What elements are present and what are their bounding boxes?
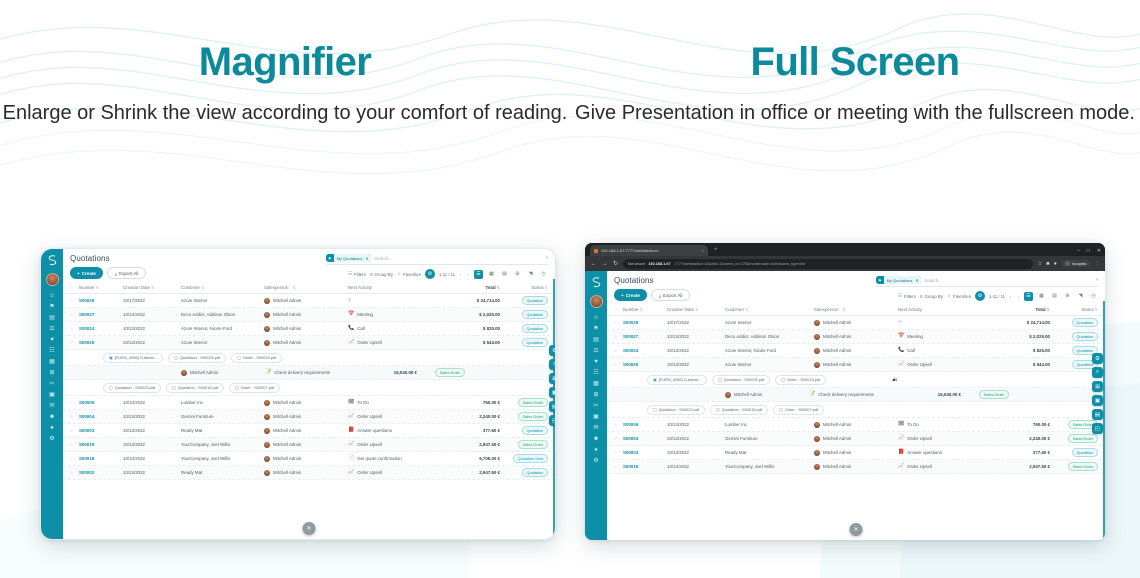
kanban-view-button[interactable]: ▦ <box>1037 292 1046 301</box>
layout-tool-button[interactable]: ▤ <box>549 401 556 412</box>
magnifier-tool-button[interactable]: ⌕ <box>1092 367 1103 378</box>
forward-icon[interactable]: → <box>601 261 608 267</box>
status-badge: Quotation <box>1050 332 1098 340</box>
row-total: 2,240.00 € <box>446 414 500 419</box>
not-secure-label: Not secure <box>628 262 645 266</box>
manufacturing-icon[interactable]: ✂ <box>49 381 54 387</box>
row-activity: 📄Get quote confirmation <box>348 456 446 461</box>
table-row[interactable]: ○ S00027 10/13/2022 Deco Addict, Addison… <box>63 308 555 322</box>
avatar[interactable] <box>46 273 59 286</box>
table-row[interactable]: ○ S00025 10/13/2022 Azure Interior Mitch… <box>63 336 555 350</box>
reload-icon[interactable]: ↻ <box>612 260 619 267</box>
window-controls: – □ ✕ <box>1077 248 1101 254</box>
row-number[interactable]: S00018 <box>79 456 123 461</box>
odoo-s-logo-icon[interactable] <box>588 274 604 290</box>
attachment-chip[interactable]: ▢Order - S00007.pdf <box>773 405 824 415</box>
table-row[interactable]: ○ S00006 10/13/2022 Lumber Inc Mitchell … <box>63 396 555 410</box>
status-badge: Sales Order <box>961 390 1009 398</box>
row-checkbox[interactable]: ○ <box>70 428 79 433</box>
extension-icon[interactable]: ■ <box>1046 261 1049 267</box>
table-row[interactable]: ○ S00027 10/13/2022 Deco Addict, Addison… <box>607 330 1105 344</box>
close-overlay-button[interactable]: ✕ <box>850 523 863 536</box>
row-total: $ 825.00 <box>446 326 500 331</box>
export-all-button[interactable]: ⤓ Export All <box>651 289 690 301</box>
row-salesperson: Mitchell Admin <box>264 470 348 476</box>
inventory-icon[interactable]: ☷ <box>593 370 598 376</box>
row-total: 2,947.50 € <box>446 470 500 475</box>
filters-label: Filters <box>904 294 916 299</box>
avatar <box>814 450 820 456</box>
sidebar-tool-button[interactable]: ◰ <box>549 415 556 426</box>
pager-previous-button[interactable]: ‹ <box>459 272 463 277</box>
table-row[interactable]: ○ S00026 10/17/2022 Azure Interior Mitch… <box>607 316 1105 330</box>
email-icon[interactable]: ✉ <box>49 403 54 409</box>
pdf-file-icon: ▢ <box>716 407 720 412</box>
settings-tool-button[interactable]: ⚙ <box>549 345 556 356</box>
row-salesperson: Mitchell Admin <box>814 334 898 340</box>
row-customer: Ready Mat <box>725 450 814 455</box>
fullscreen-tool-button[interactable]: ⊞ <box>549 373 556 384</box>
export-all-label: Export All <box>663 293 682 298</box>
employees-icon[interactable]: ☻ <box>593 436 599 442</box>
row-number[interactable]: S00026 <box>79 298 123 303</box>
attachment-row: ▢Quotation - S00023.pdf ▢Quotation - S00… <box>63 380 555 396</box>
incognito-label: Incognito <box>1072 262 1087 266</box>
fullscreen-tool-button[interactable]: ⊞ <box>1092 381 1103 392</box>
row-checkbox[interactable]: ○ <box>614 320 623 325</box>
activity-icon: 📈 <box>898 436 904 441</box>
settings-icon[interactable]: ⚙ <box>593 458 598 464</box>
row-checkbox[interactable]: ○ <box>614 422 623 427</box>
incognito-badge[interactable]: Incognito <box>1061 260 1091 267</box>
favorites-icon[interactable]: ♥ <box>594 359 598 365</box>
row-checkbox[interactable]: ○ <box>70 340 79 345</box>
row-activity: 📞Call <box>898 348 996 353</box>
chevron-down-icon[interactable]: ▾ <box>546 255 548 261</box>
url-bar[interactable]: Not secure 192.168.1.67 :7777/web#action… <box>623 259 1033 269</box>
attachment-chip[interactable]: ▢Quotation - S00015.pdf <box>710 405 768 415</box>
row-salesperson: Mitchell Admin <box>725 392 809 398</box>
browser-menu-icon[interactable]: ⋮ <box>1095 261 1101 267</box>
row-activity: 📈Order Upsell <box>898 464 996 469</box>
scrollbar[interactable] <box>1103 301 1105 540</box>
activity-icon: 📈 <box>348 470 354 475</box>
column-header-next-activity[interactable]: Next Activity <box>348 285 446 290</box>
odoo-app-window: ☺ ⚑ ▤ ⚖ ♥ ☷ ▦ ⊞ ✂ ▣ ✉ ☻ ♠ ⚙ Quotations <box>585 271 1105 540</box>
project-icon[interactable]: ▣ <box>593 414 599 420</box>
activity-icon: 📝 <box>809 392 815 397</box>
layout-tool-button[interactable]: ▤ <box>1092 409 1103 420</box>
avatar[interactable] <box>590 295 603 308</box>
pager-next-button[interactable]: › <box>466 272 470 277</box>
row-date: 10/13/2022 <box>667 362 725 367</box>
row-total: 377.60 € <box>446 428 500 433</box>
row-number[interactable]: S00026 <box>623 320 667 325</box>
favorites-dropdown[interactable]: ☆ Favorites <box>947 293 971 299</box>
row-checkbox[interactable]: ○ <box>70 442 79 447</box>
control-panel-buttons: + Create ⤓ Export All <box>614 289 690 301</box>
filters-dropdown[interactable]: ☷ Filters <box>898 293 916 299</box>
employees-icon[interactable]: ☻ <box>49 414 55 420</box>
filter-icon: ☷ <box>898 293 902 299</box>
row-activity: 📞Call <box>348 326 446 331</box>
magnifier-settings-button[interactable]: ⚙ <box>975 291 985 301</box>
column-header-customer[interactable]: Customer⇅ <box>181 285 264 290</box>
incognito-icon <box>1065 261 1070 266</box>
pivot-view-button[interactable]: ⊞ <box>1063 292 1072 301</box>
status-badge: Quotation <box>500 338 548 346</box>
pager-next-button[interactable]: › <box>1016 294 1020 299</box>
row-number[interactable]: S00004 <box>623 436 667 441</box>
list-view-button[interactable]: ☰ <box>1024 292 1033 301</box>
row-number[interactable]: S00019 <box>79 442 123 447</box>
favorites-label: Favorites <box>953 294 971 299</box>
activity-icon: 📈 <box>348 340 354 345</box>
column-header-next-activity[interactable]: Next Activity <box>898 307 996 312</box>
row-number[interactable]: S00002 <box>79 470 123 475</box>
table-row[interactable]: ○ S00024 10/13/2022 Azure Interior, Nico… <box>607 344 1105 358</box>
attachment-chip[interactable]: ▢Quotation - S00025.pdf <box>712 375 770 385</box>
row-salesperson: Mitchell Admin <box>814 422 898 428</box>
activity-icon: ○ <box>898 320 901 325</box>
row-checkbox[interactable]: ○ <box>614 334 623 339</box>
column-header-salesperson[interactable]: Salesperson⇅ <box>814 307 898 312</box>
row-activity: 📕Answer questions <box>348 428 446 433</box>
calendar-view-button[interactable]: ▤ <box>500 270 509 279</box>
attachment-chip[interactable]: ▢Order - S00007.pdf <box>229 383 280 393</box>
table-row[interactable]: ○ S00002 10/13/2022 Ready Mat Mitchell A… <box>63 466 555 480</box>
settings-icon[interactable]: ⚙ <box>49 436 54 442</box>
column-header-status[interactable]: Status⇅ <box>1050 307 1098 312</box>
favorites-dropdown[interactable]: ☆ Favorites <box>397 271 421 277</box>
star-icon: ☆ <box>397 271 401 277</box>
row-salesperson: Mitchell Admin <box>814 348 898 354</box>
accounting-icon[interactable]: ⚖ <box>593 348 598 354</box>
row-customer: Azure Interior <box>181 340 264 345</box>
row-checkbox[interactable]: ○ <box>70 400 79 405</box>
close-overlay-button[interactable]: ✕ <box>303 522 316 535</box>
column-header-salesperson[interactable]: Salesperson⇅ <box>264 285 348 290</box>
attachment-row: ▣[FURN_0096] Customi... ▢Quotation - S00… <box>607 372 1105 388</box>
row-date: 10/17/2022 <box>667 320 725 325</box>
row-salesperson: Mitchell Admin <box>264 456 348 462</box>
row-customer: YourCompany, Joel Willis <box>181 456 264 461</box>
column-header-creation-date[interactable]: Creation Date⇅ <box>123 285 181 290</box>
expanded-detail-row: Mitchell Admin 📝Check delivery requireme… <box>607 388 1105 402</box>
tablet-mockup-magnifier: ☺ ⚑ ▤ ⚖ ♥ ☷ ▦ ⊞ ✂ ▣ ✉ ☻ ♠ ⚙ Quotations <box>40 248 556 540</box>
attachment-chip[interactable]: ▢Quotation - S00025.pdf <box>168 353 226 363</box>
project-icon[interactable]: ▣ <box>49 392 55 398</box>
search-placeholder: Search... <box>924 278 942 283</box>
column-header-creation-date[interactable]: Creation Date⇅ <box>667 307 725 312</box>
select-all-checkbox[interactable]: ○ <box>70 285 79 290</box>
row-checkbox[interactable]: ○ <box>614 348 623 353</box>
table-row[interactable]: ○ S00018 10/13/2022 YourCompany, Joel Wi… <box>63 452 555 466</box>
browser-tab[interactable]: 192.168.1.67:7777/web/#action= × <box>590 245 708 256</box>
table-row[interactable]: ○ S00004 10/13/2022 Gemini Furniture Mit… <box>607 432 1105 446</box>
status-badge: Quotation <box>500 426 548 434</box>
table-header-row: ○ Number⇅ Creation Date⇅ Customer⇅ Sales… <box>63 282 555 294</box>
row-checkbox[interactable]: ○ <box>614 362 623 367</box>
sales-icon[interactable]: ▤ <box>49 315 55 321</box>
group-by-dropdown[interactable]: ≡ Group By <box>920 294 943 299</box>
filters-dropdown[interactable]: ☷ Filters <box>348 271 366 277</box>
browser-tab-bar: 192.168.1.67:7777/web/#action= × + – □ ✕ <box>585 243 1105 256</box>
row-checkbox[interactable]: ○ <box>614 464 623 469</box>
activity-view-button[interactable]: ◷ <box>1089 292 1098 301</box>
search-input[interactable]: ⚑ My Quotations ✕ Search... ▾ <box>876 276 1098 287</box>
group-by-label: Group By <box>374 272 393 277</box>
table-row[interactable]: ○ S00019 10/13/2022 YourCompany, Joel Wi… <box>607 460 1105 474</box>
discuss-icon[interactable]: ☺ <box>49 293 55 299</box>
table-header-row: ○ Number⇅ Creation Date⇅ Customer⇅ Sales… <box>607 304 1105 316</box>
attachment-chip[interactable]: ▢Quotation - S00015.pdf <box>166 383 224 393</box>
create-button[interactable]: + Create <box>614 289 647 301</box>
close-icon[interactable]: ✕ <box>915 276 921 284</box>
odoo-s-logo-icon[interactable] <box>44 252 60 268</box>
row-number[interactable]: S00025 <box>79 340 123 345</box>
pdf-file-icon: ▢ <box>653 407 657 412</box>
row-checkbox[interactable]: ○ <box>70 298 79 303</box>
theme-tool-button[interactable]: ▣ <box>1092 395 1103 406</box>
row-date: 10/13/2022 <box>123 442 181 447</box>
row-date: 10/13/2022 <box>123 414 181 419</box>
purchase-icon[interactable]: ▦ <box>593 381 599 387</box>
activity-icon: 📕 <box>898 450 904 455</box>
magnifier-tool-button[interactable]: ⌕ <box>549 359 556 370</box>
row-activity: 📕Answer questions <box>898 450 996 455</box>
manufacturing-icon[interactable]: ✂ <box>593 403 598 409</box>
recruitment-icon[interactable]: ♠ <box>594 447 597 453</box>
calendar-view-button[interactable]: ▤ <box>1050 292 1059 301</box>
row-checkbox[interactable]: ○ <box>70 312 79 317</box>
column-header-total[interactable]: Total⇅ <box>996 307 1050 312</box>
row-total: 2,947.50 € <box>446 442 500 447</box>
favorites-label: Favorites <box>403 272 421 277</box>
row-salesperson: Mitchell Admin <box>814 450 898 456</box>
favicon-icon <box>594 249 598 253</box>
avatar <box>264 414 270 420</box>
expanded-detail-row: Mitchell Admin 📝Check delivery requireme… <box>63 366 555 380</box>
browser-mockup-fullscreen: 192.168.1.67:7777/web/#action= × + – □ ✕… <box>585 243 1105 540</box>
row-checkbox[interactable]: ○ <box>70 414 79 419</box>
table-row[interactable]: ○ S00006 10/13/2022 Lumber Inc Mitchell … <box>607 418 1105 432</box>
control-panel-tools: ☷ Filters ≡ Group By ☆ Favorites <box>898 291 1098 301</box>
group-by-dropdown[interactable]: ≡ Group By <box>370 272 393 277</box>
status-badge: Quotation <box>1050 448 1098 456</box>
chevron-down-icon[interactable]: ▾ <box>1096 277 1098 283</box>
download-icon: ⤓ <box>659 293 661 298</box>
activity-view-button[interactable]: ◷ <box>539 270 548 279</box>
row-number[interactable]: S00004 <box>79 414 123 419</box>
table-row[interactable]: ○ S00025 10/13/2022 Azure Interior Mitch… <box>607 358 1105 372</box>
profile-icon[interactable]: ● <box>1054 261 1057 267</box>
row-date: 10/13/2022 <box>667 436 725 441</box>
activity-icon: 📞 <box>898 348 904 353</box>
row-activity: 📈Order Upsell <box>348 340 446 345</box>
row-customer: Azure Interior, Nicole Ford <box>725 348 814 353</box>
floating-toolbar: ⚙ ⌕ ⊞ ▣ ▤ ◰ <box>549 345 556 426</box>
row-salesperson: Mitchell Admin <box>264 414 348 420</box>
row-customer: Ready Mat <box>181 470 264 475</box>
pager-text: 1-11 / 11 <box>439 272 455 277</box>
star-icon: ☆ <box>947 293 951 299</box>
close-button[interactable]: ✕ <box>1097 248 1101 254</box>
column-header-customer[interactable]: Customer⇅ <box>725 307 814 312</box>
status-badge: Sales Order <box>1050 434 1098 442</box>
favorites-icon[interactable]: ♥ <box>50 337 54 343</box>
search-input[interactable]: ⚑ My Quotations ✕ Search... ▾ <box>326 254 548 265</box>
row-checkbox[interactable]: ○ <box>614 436 623 441</box>
settings-tool-button[interactable]: ⚙ <box>1092 353 1103 364</box>
row-total: 760.00 € <box>996 422 1050 427</box>
row-activity: 🗓To Do <box>898 422 996 427</box>
row-activity: ○ <box>898 320 996 325</box>
row-checkbox[interactable]: ○ <box>70 470 79 475</box>
attachment-chip[interactable]: ▢Order - S00015.pdf <box>775 375 826 385</box>
avatar <box>814 320 820 326</box>
activity-icon: 📈 <box>898 464 904 469</box>
row-number[interactable]: S00003 <box>79 428 123 433</box>
activity-icon: 📈 <box>348 414 354 419</box>
row-total: $ 544.00 <box>446 340 500 345</box>
row-checkbox[interactable]: ○ <box>70 456 79 461</box>
attachment-chip[interactable]: ▢Quotation - S00023.pdf <box>103 383 161 393</box>
row-date: 10/13/2022 <box>667 334 725 339</box>
close-icon[interactable]: × <box>702 248 704 253</box>
accounting-icon[interactable]: ⚖ <box>49 326 54 332</box>
row-number[interactable]: S00003 <box>623 450 667 455</box>
row-total: 15,040.00 € <box>907 392 961 397</box>
search-facet-my-quotations[interactable]: ⚑ My Quotations ✕ <box>876 276 921 284</box>
row-salesperson: Mitchell Admin <box>814 464 898 470</box>
group-icon: ≡ <box>370 272 373 277</box>
row-number[interactable]: S00024 <box>623 348 667 353</box>
crm-icon[interactable]: ⚑ <box>49 304 54 310</box>
row-activity: 📈Order Upsell <box>898 436 996 441</box>
row-date: 10/13/2022 <box>123 456 181 461</box>
table-row[interactable]: ○ S00004 10/13/2022 Gemini Furniture Mit… <box>63 410 555 424</box>
list-view-button[interactable]: ☰ <box>474 270 483 279</box>
row-number[interactable]: S00025 <box>623 362 667 367</box>
quotations-table: ○ Number⇅ Creation Date⇅ Customer⇅ Sales… <box>63 282 555 539</box>
crm-icon[interactable]: ⚑ <box>593 326 598 332</box>
theme-tool-button[interactable]: ▣ <box>549 387 556 398</box>
column-header-total[interactable]: Total⇅ <box>446 285 500 290</box>
row-checkbox[interactable]: ○ <box>70 326 79 331</box>
create-button[interactable]: + Create <box>70 267 103 279</box>
row-total: $ 24,714.00 <box>996 320 1050 325</box>
attachment-chip[interactable]: ▢Order - S00015.pdf <box>231 353 282 363</box>
pdf-file-icon: ▢ <box>172 385 176 390</box>
magnifier-settings-button[interactable]: ⚙ <box>425 269 435 279</box>
row-activity: 📅Meeting <box>898 334 996 339</box>
row-number[interactable]: S00006 <box>79 400 123 405</box>
graph-view-button[interactable]: ◥ <box>1076 292 1085 301</box>
table-row[interactable]: ○ S00024 10/13/2022 Azure Interior, Nico… <box>63 322 555 336</box>
export-all-button[interactable]: ⤓ Export All <box>107 267 146 279</box>
attachment-chip[interactable]: ▢Quotation - S00023.pdf <box>647 405 705 415</box>
pdf-file-icon: ▢ <box>235 385 239 390</box>
status-badge: Sales Order <box>1050 420 1098 428</box>
new-tab-button[interactable]: + <box>714 245 718 256</box>
close-icon[interactable]: ✕ <box>365 254 371 262</box>
select-all-checkbox[interactable]: ○ <box>614 307 623 312</box>
sales-icon[interactable]: ▤ <box>593 337 599 343</box>
purchase-icon[interactable]: ▦ <box>49 359 55 365</box>
filter-icon: ⚑ <box>876 276 884 284</box>
bookmark-star-icon[interactable]: ☆ <box>1037 261 1042 267</box>
row-salesperson: Mitchell Admin <box>264 326 348 332</box>
table-row[interactable]: ○ S00003 10/13/2022 Ready Mat Mitchell A… <box>63 424 555 438</box>
row-salesperson: Mitchell Admin <box>264 298 348 304</box>
attachment-chip[interactable]: ▣[FURN_0096] Customi... <box>103 353 163 363</box>
recruitment-icon[interactable]: ♠ <box>50 425 53 431</box>
row-activity: 📝Check delivery requirements <box>809 392 907 397</box>
row-date: 10/13/2022 <box>123 312 181 317</box>
table-row[interactable]: ○ S00019 10/13/2022 YourCompany, Joel Wi… <box>63 438 555 452</box>
page-title: Quotations <box>614 276 690 285</box>
row-customer: Azure Interior <box>181 298 264 303</box>
row-number[interactable]: S00024 <box>79 326 123 331</box>
column-header-number[interactable]: Number⇅ <box>623 307 667 312</box>
create-button-label: Create <box>626 293 640 298</box>
row-activity: 📈Order Upsell <box>898 362 996 367</box>
row-activity: ○ <box>348 298 446 303</box>
search-facet-my-quotations[interactable]: ⚑ My Quotations ✕ <box>326 254 371 262</box>
kanban-view-button[interactable]: ▦ <box>487 270 496 279</box>
table-row[interactable]: ○ S00026 10/17/2022 Azure Interior Mitch… <box>63 294 555 308</box>
control-panel-tools: ☷ Filters ≡ Group By ☆ Favorites <box>348 269 548 279</box>
apps-icon[interactable]: ⊞ <box>49 370 54 376</box>
app-main-content: Quotations + Create ⤓ Export All <box>607 271 1105 540</box>
odoo-app-window: ☺ ⚑ ▤ ⚖ ♥ ☷ ▦ ⊞ ✂ ▣ ✉ ☻ ♠ ⚙ Quotations <box>41 249 555 539</box>
row-checkbox[interactable]: ○ <box>614 450 623 455</box>
graph-view-button[interactable]: ◥ <box>526 270 535 279</box>
create-button-label: Create <box>82 271 96 276</box>
attachment-chip[interactable]: ▣[FURN_0096] Customi... <box>647 375 707 385</box>
email-icon[interactable]: ✉ <box>593 425 598 431</box>
avatar <box>264 456 270 462</box>
row-number[interactable]: S00027 <box>623 334 667 339</box>
row-salesperson: Mitchell Admin <box>264 428 348 434</box>
discuss-icon[interactable]: ☺ <box>593 315 599 321</box>
maximize-button[interactable]: □ <box>1087 248 1090 254</box>
sidebar-tool-button[interactable]: ◰ <box>1092 423 1103 434</box>
control-panel: Quotations + Create ⤓ Export All <box>63 249 555 279</box>
row-activity: 📈Order Upsell <box>348 414 446 419</box>
feature-block-fullscreen: Full Screen Give Presentation in office … <box>570 40 1140 127</box>
row-activity: 📝Check delivery requirements <box>265 370 363 375</box>
row-number[interactable]: S00006 <box>623 422 667 427</box>
inventory-icon[interactable]: ☷ <box>49 348 54 354</box>
minimize-button[interactable]: – <box>1077 248 1080 254</box>
row-customer: Deco Addict, Addison Olson <box>181 312 264 317</box>
row-customer: Gemini Furniture <box>725 436 814 441</box>
column-header-number[interactable]: Number⇅ <box>79 285 123 290</box>
apps-icon[interactable]: ⊞ <box>593 392 598 398</box>
table-row[interactable]: ○ S00003 10/13/2022 Ready Mat Mitchell A… <box>607 446 1105 460</box>
pager-previous-button[interactable]: ‹ <box>1009 294 1013 299</box>
row-salesperson: Mitchell Admin <box>264 340 348 346</box>
row-number[interactable]: S00027 <box>79 312 123 317</box>
column-header-status[interactable]: Status⇅ <box>500 285 548 290</box>
row-number[interactable]: S00019 <box>623 464 667 469</box>
avatar <box>181 370 187 376</box>
pivot-view-button[interactable]: ⊞ <box>513 270 522 279</box>
row-date: 10/13/2022 <box>667 422 725 427</box>
back-icon[interactable]: ← <box>590 261 597 267</box>
